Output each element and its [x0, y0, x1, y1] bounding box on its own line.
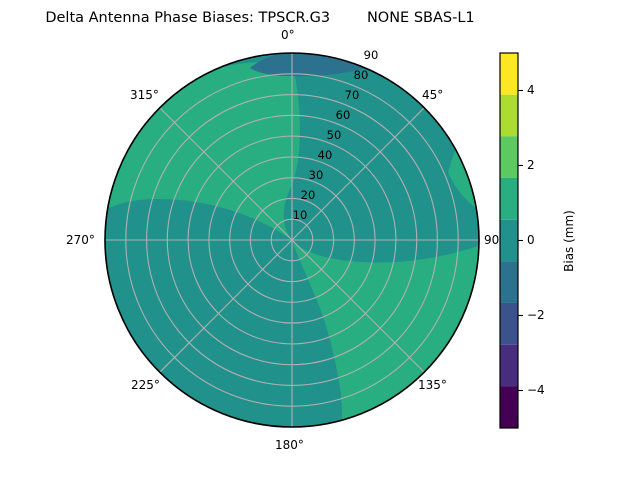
- azimuth-label-45: 45°: [422, 88, 443, 102]
- colorbar-ticks: [518, 91, 523, 391]
- figure-canvas: Delta Antenna Phase Biases: TPSCR.G3 NON…: [0, 0, 640, 480]
- colorbar[interactable]: [500, 53, 523, 428]
- radial-tick-70: 70: [345, 88, 360, 102]
- azimuth-label-270: 270°: [66, 233, 95, 247]
- azimuth-label-180: 180°: [275, 438, 304, 452]
- colorbar-swatches: [500, 53, 518, 428]
- colorbar-tick-0: 0: [527, 233, 535, 247]
- azimuth-label-315: 315°: [130, 88, 159, 102]
- colorbar-tick-minus2: −2: [527, 308, 545, 322]
- colorbar-band-m1to0: [500, 261, 518, 303]
- colorbar-band-4to5: [500, 53, 518, 95]
- colorbar-tick-2: 2: [527, 158, 535, 172]
- radial-tick-40: 40: [318, 148, 333, 162]
- colorbar-band-m3tom2: [500, 345, 518, 387]
- radial-tick-60: 60: [336, 108, 351, 122]
- radial-tick-50: 50: [327, 128, 342, 142]
- colorbar-band-1to2: [500, 178, 518, 220]
- colorbar-title: Bias (mm): [562, 210, 576, 272]
- colorbar-band-m4tom3: [500, 386, 518, 428]
- radial-tick-10: 10: [293, 208, 308, 222]
- azimuth-label-0: 0°: [281, 28, 295, 42]
- azimuth-label-90: 90: [484, 233, 499, 247]
- radial-tick-20: 20: [301, 188, 316, 202]
- polar-plot: 10 20 30 40 50 60 70 80 90: [0, 0, 640, 480]
- polar-grid-spokes: [105, 53, 479, 427]
- colorbar-band-m2tom1: [500, 303, 518, 345]
- colorbar-band-3to4: [500, 95, 518, 137]
- azimuth-label-135: 135°: [418, 378, 447, 392]
- colorbar-band-0to1: [500, 220, 518, 262]
- radial-tick-90: 90: [364, 48, 379, 62]
- colorbar-tick-4: 4: [527, 83, 535, 97]
- colorbar-tick-minus4: −4: [527, 383, 545, 397]
- radial-tick-80: 80: [354, 68, 369, 82]
- colorbar-band-2to3: [500, 136, 518, 178]
- radial-tick-30: 30: [309, 168, 324, 182]
- azimuth-label-225: 225°: [131, 378, 160, 392]
